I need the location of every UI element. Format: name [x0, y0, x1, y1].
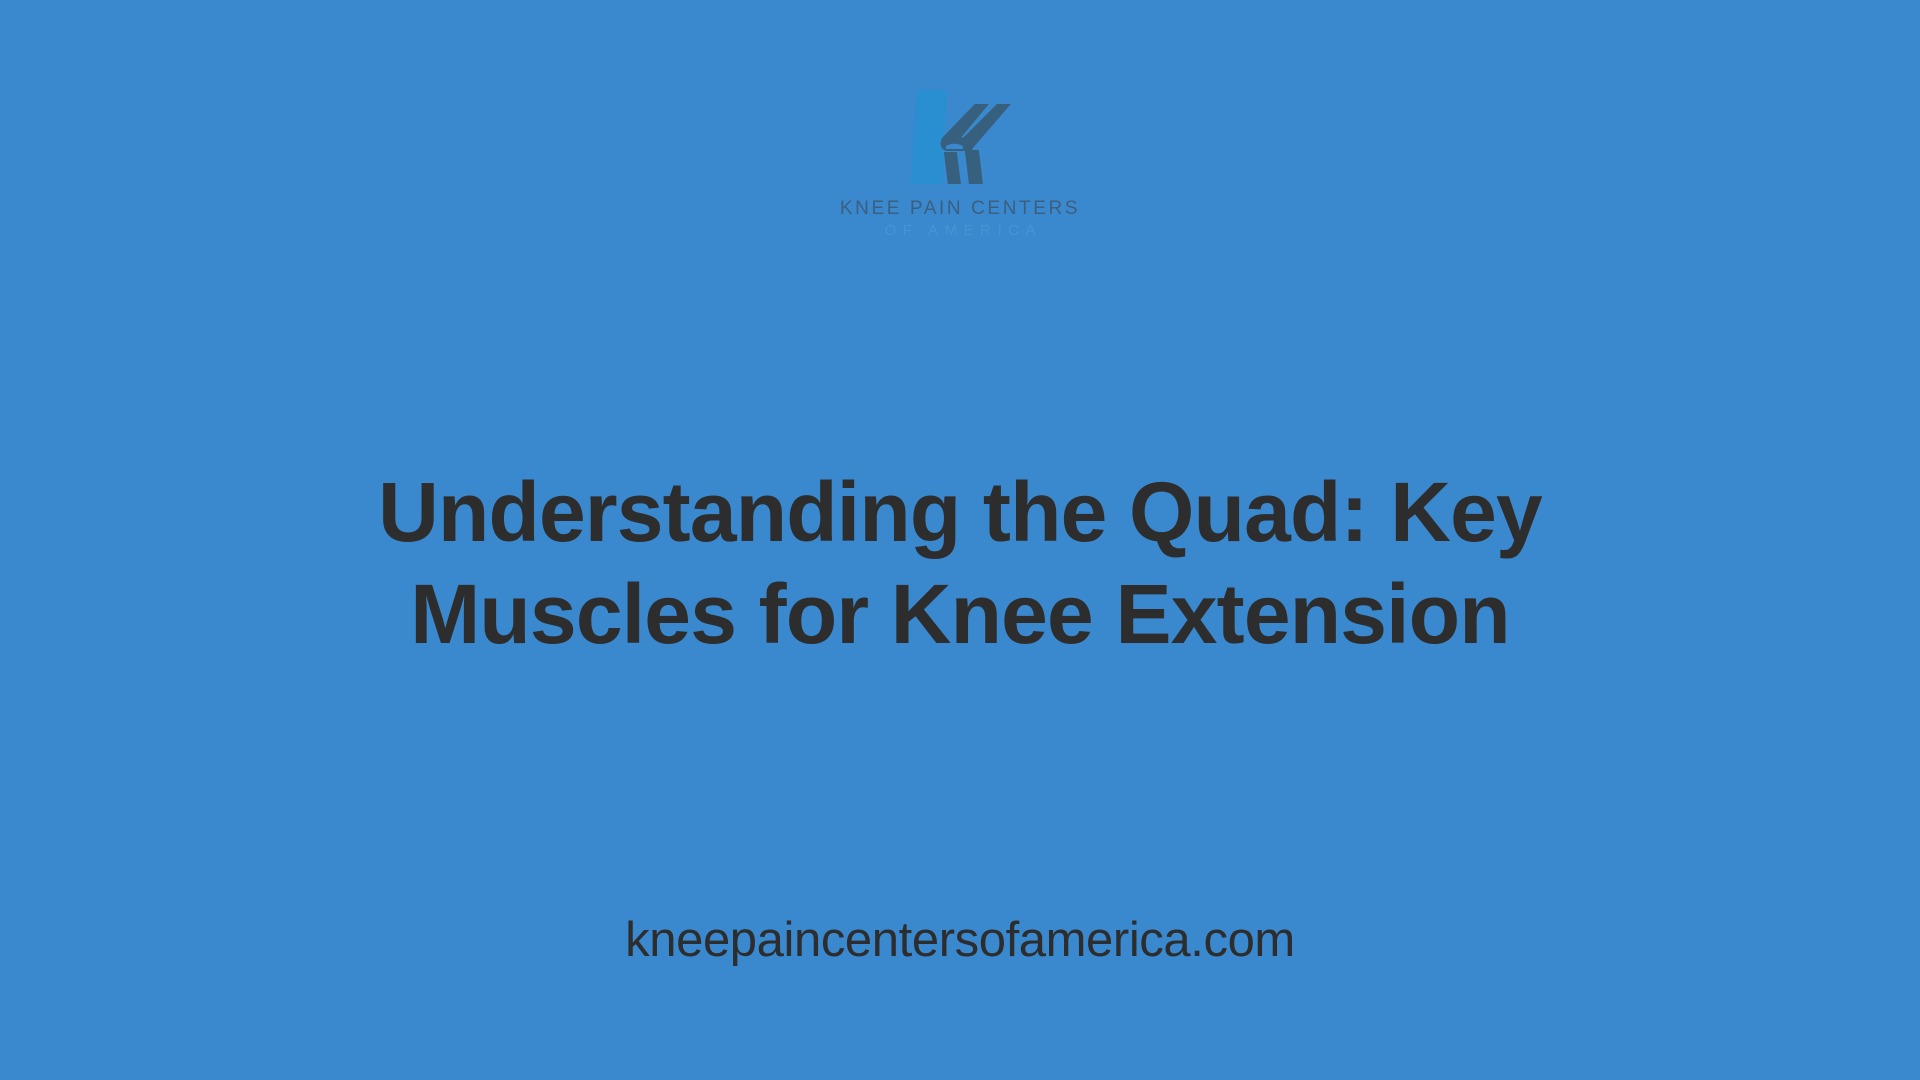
promo-slide: KNEE PAIN CENTERS OF AMERICA Understandi… [0, 0, 1920, 1080]
brand-logo[interactable]: KNEE PAIN CENTERS OF AMERICA [840, 88, 1080, 238]
knee-joint-k-logo-icon [901, 88, 1019, 186]
brand-wordmark: KNEE PAIN CENTERS [840, 199, 1080, 218]
page-title-line-1: Understanding the Quad: Key [180, 470, 1740, 554]
page-title: Understanding the Quad: Key Muscles for … [180, 470, 1740, 656]
page-title-line-2: Muscles for Knee Extension [180, 572, 1740, 656]
brand-subwordmark: OF AMERICA [878, 223, 1042, 238]
website-url[interactable]: kneepaincentersofamerica.com [625, 916, 1295, 965]
